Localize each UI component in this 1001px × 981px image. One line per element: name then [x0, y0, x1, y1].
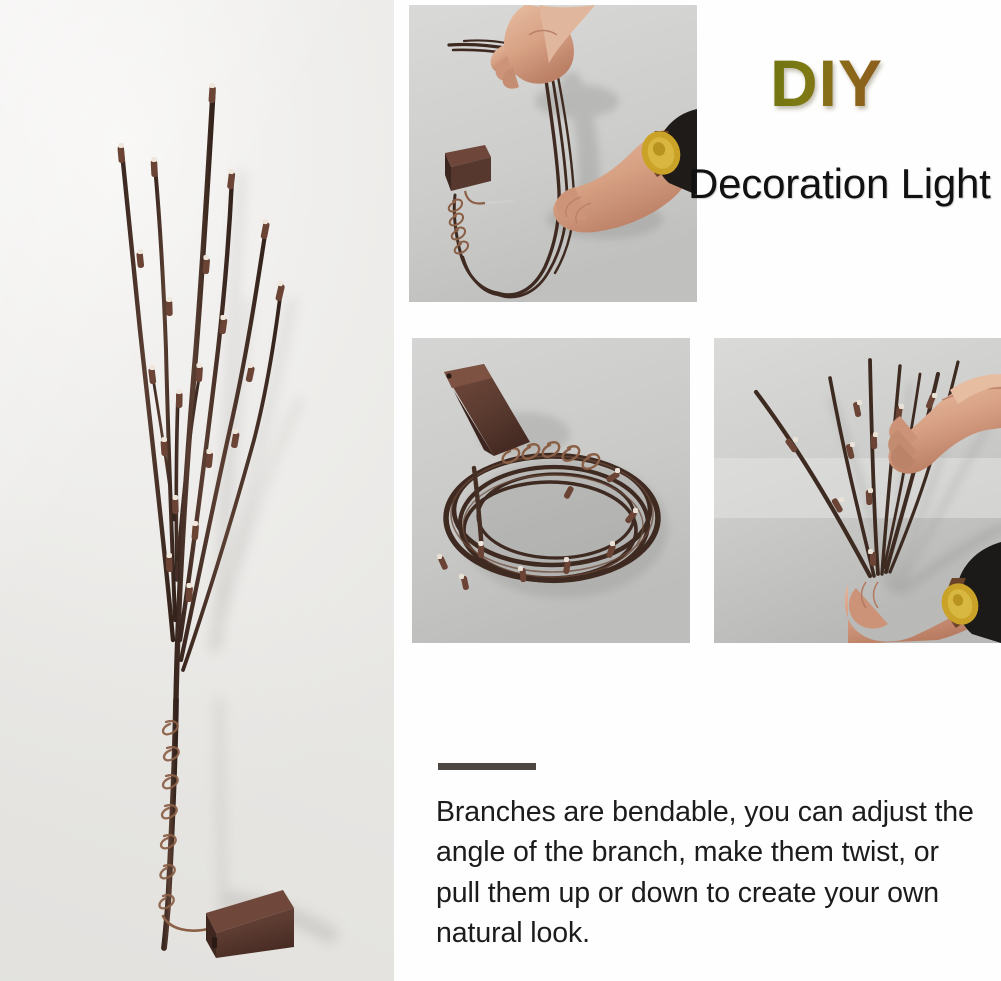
battery-box — [206, 890, 294, 958]
photo-panel-assembly — [409, 5, 697, 302]
hero-branch-illustration — [0, 0, 394, 981]
coiled-illustration — [412, 338, 690, 643]
assembly-illustration — [409, 5, 697, 302]
hero-product-photo — [0, 0, 394, 981]
page-subtitle-decoration-light: Decoration Light — [688, 163, 991, 205]
photo-panel-coiled — [412, 338, 690, 643]
photo-panel-arranging — [714, 338, 1001, 643]
arranging-illustration — [714, 338, 1001, 643]
description-divider-rule — [438, 763, 536, 770]
description-body-text: Branches are bendable, you can adjust th… — [436, 792, 981, 954]
page-title-diy: DIY — [770, 50, 883, 116]
